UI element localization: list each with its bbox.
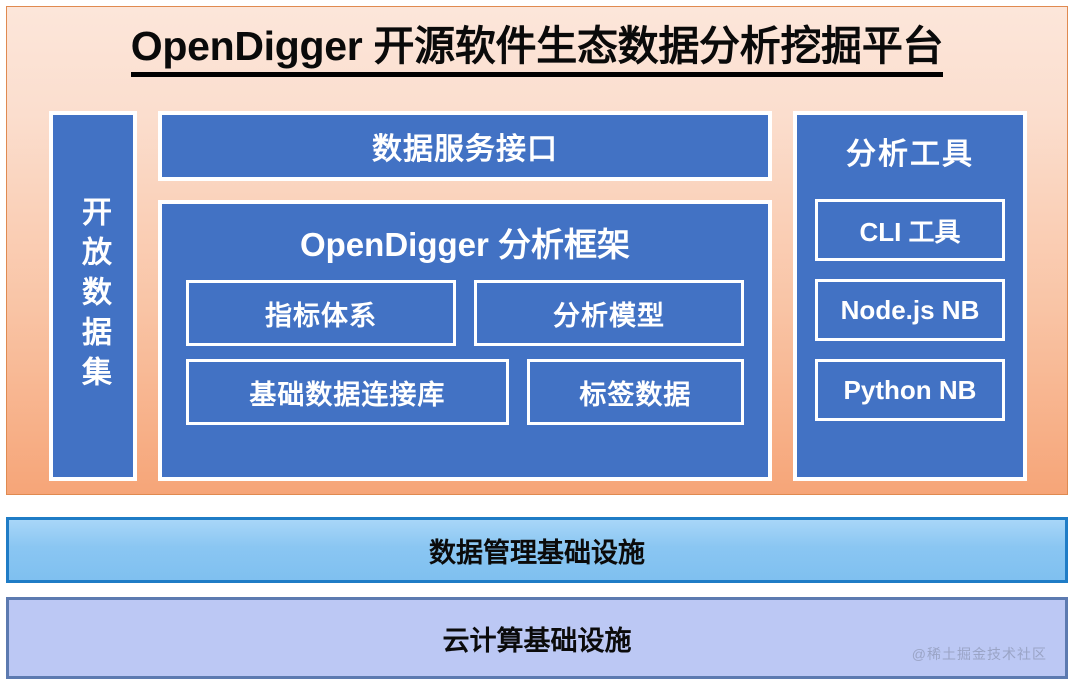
framework-row-top: 指标体系 分析模型 [186,280,744,346]
platform-title-text: OpenDigger 开源软件生态数据分析挖掘平台 [131,24,944,77]
tool-box-python-notebook[interactable]: Python NB [815,359,1005,421]
platform-title: OpenDigger 开源软件生态数据分析挖掘平台 [7,23,1067,77]
cloud-computing-infrastructure-bar[interactable]: 云计算基础设施 @稀土掘金技术社区 [6,597,1068,679]
open-dataset-block[interactable]: 开放数据集 [49,111,137,481]
framework-box-base-data-connector[interactable]: 基础数据连接库 [186,359,509,425]
platform-container: OpenDigger 开源软件生态数据分析挖掘平台 开放数据集 数据服务接口 O… [6,6,1068,495]
framework-box-metric-system[interactable]: 指标体系 [186,280,456,346]
framework-row-bottom: 基础数据连接库 标签数据 [186,359,744,425]
data-management-infrastructure-label: 数据管理基础设施 [429,531,645,570]
framework-box-analysis-model[interactable]: 分析模型 [474,280,744,346]
diagram-canvas: OpenDigger 开源软件生态数据分析挖掘平台 开放数据集 数据服务接口 O… [0,0,1080,685]
framework-box-label: 标签数据 [579,373,691,412]
data-service-interface-block[interactable]: 数据服务接口 [158,111,772,181]
framework-box-label-data[interactable]: 标签数据 [527,359,744,425]
framework-box-label: 基础数据连接库 [249,373,445,412]
analysis-framework-title: OpenDigger 分析框架 [300,218,630,266]
tool-box-cli[interactable]: CLI 工具 [815,199,1005,261]
open-dataset-label: 开放数据集 [78,196,108,396]
watermark-text: @稀土掘金技术社区 [912,644,1047,664]
data-management-infrastructure-bar[interactable]: 数据管理基础设施 [6,517,1068,583]
tool-box-nodejs-notebook[interactable]: Node.js NB [815,279,1005,341]
analysis-tools-title: 分析工具 [846,129,974,173]
platform-columns: 开放数据集 数据服务接口 OpenDigger 分析框架 指标体系 分析模型 [49,111,1027,481]
analysis-tools-block[interactable]: 分析工具 CLI 工具 Node.js NB Python NB [793,111,1027,481]
analysis-framework-block[interactable]: OpenDigger 分析框架 指标体系 分析模型 基础数据连接库 [158,200,772,481]
tool-box-label: Python NB [844,375,977,406]
framework-box-label: 指标体系 [265,294,377,333]
framework-box-label: 分析模型 [553,294,665,333]
cloud-computing-infrastructure-label: 云计算基础设施 [443,619,632,658]
center-column: 数据服务接口 OpenDigger 分析框架 指标体系 分析模型 [158,111,772,481]
tool-box-label: CLI 工具 [859,212,960,249]
tool-box-label: Node.js NB [841,295,980,326]
data-service-interface-label: 数据服务接口 [372,124,558,168]
